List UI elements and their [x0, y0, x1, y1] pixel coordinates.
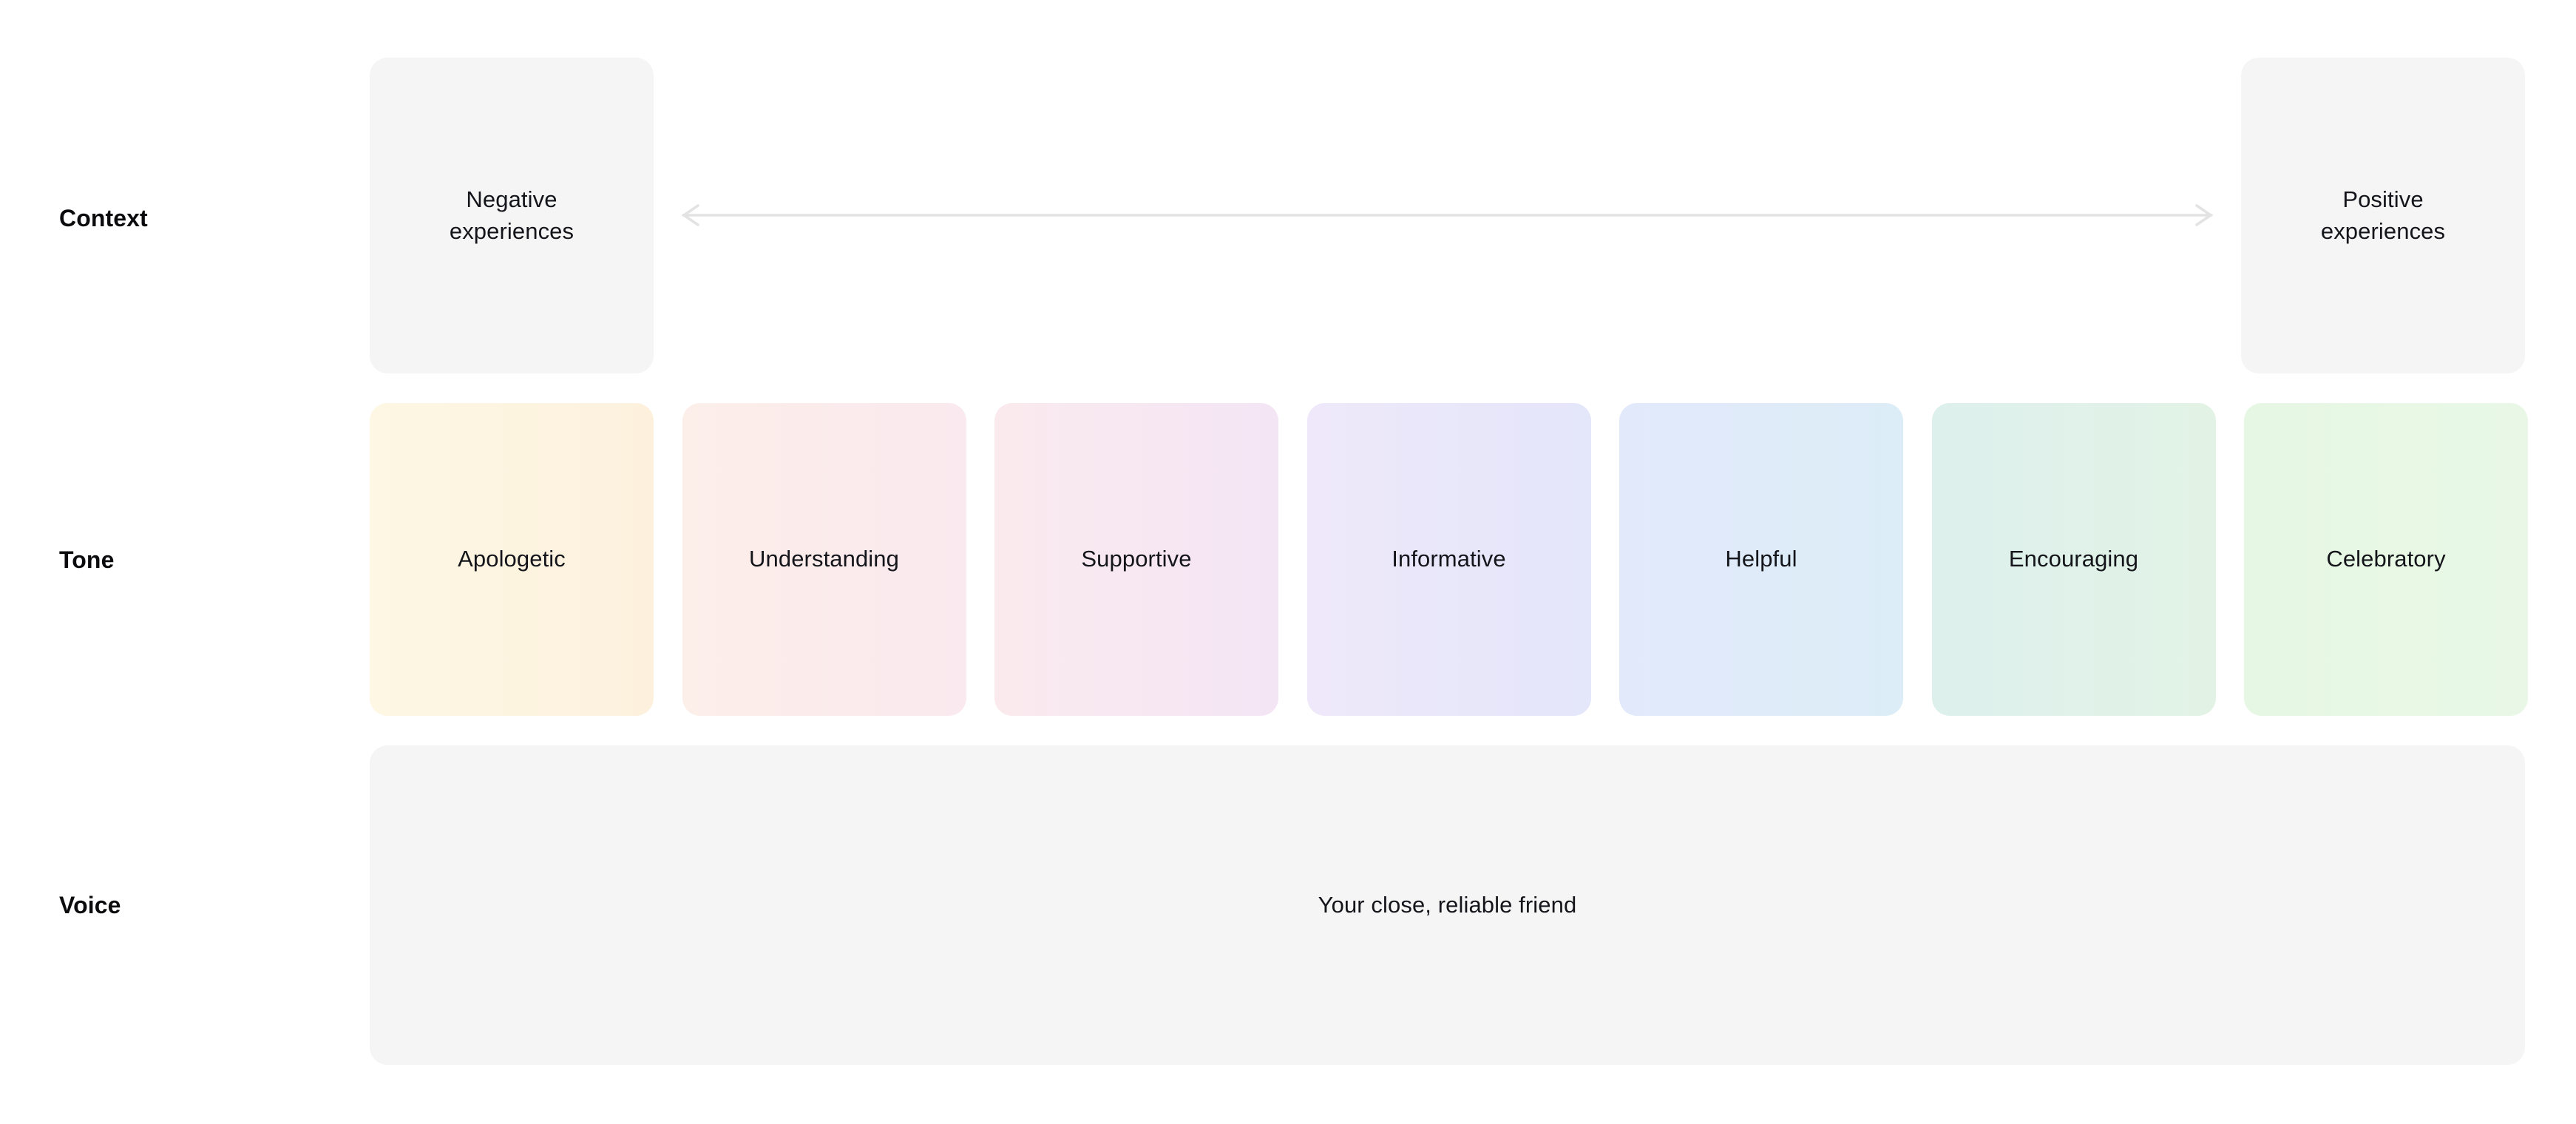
- bidirectional-arrow-icon: [680, 200, 2214, 230]
- row-label-tone: Tone: [59, 548, 114, 572]
- tone-card: Informative: [1307, 403, 1591, 716]
- tone-card: Helpful: [1619, 403, 1903, 716]
- context-card-negative-label: Negativeexperiences: [450, 184, 574, 248]
- tone-card-label: Apologetic: [458, 544, 566, 575]
- voice-card-label: Your close, reliable friend: [1318, 890, 1577, 921]
- tone-card-label: Informative: [1392, 544, 1505, 575]
- tone-card-label: Encouraging: [2009, 544, 2138, 575]
- tone-card: Celebratory: [2244, 403, 2528, 716]
- bidirectional-arrow-svg: [680, 200, 2214, 230]
- tone-card-label: Supportive: [1081, 544, 1191, 575]
- tone-card: Supportive: [994, 403, 1278, 716]
- tone-card: Understanding: [682, 403, 966, 716]
- row-label-voice: Voice: [59, 893, 121, 917]
- tone-card-label: Helpful: [1725, 544, 1797, 575]
- voice-tone-matrix: Context Negativeexperiences Positiveexpe…: [0, 0, 2576, 1124]
- tone-card: Apologetic: [370, 403, 654, 716]
- voice-card: Your close, reliable friend: [370, 745, 2525, 1065]
- context-card-positive: Positiveexperiences: [2241, 58, 2525, 373]
- context-card-positive-label: Positiveexperiences: [2321, 184, 2445, 248]
- tone-card: Encouraging: [1932, 403, 2216, 716]
- row-label-context: Context: [59, 206, 148, 230]
- context-card-negative: Negativeexperiences: [370, 58, 654, 373]
- tone-card-label: Understanding: [749, 544, 899, 575]
- tone-card-label: Celebratory: [2326, 544, 2445, 575]
